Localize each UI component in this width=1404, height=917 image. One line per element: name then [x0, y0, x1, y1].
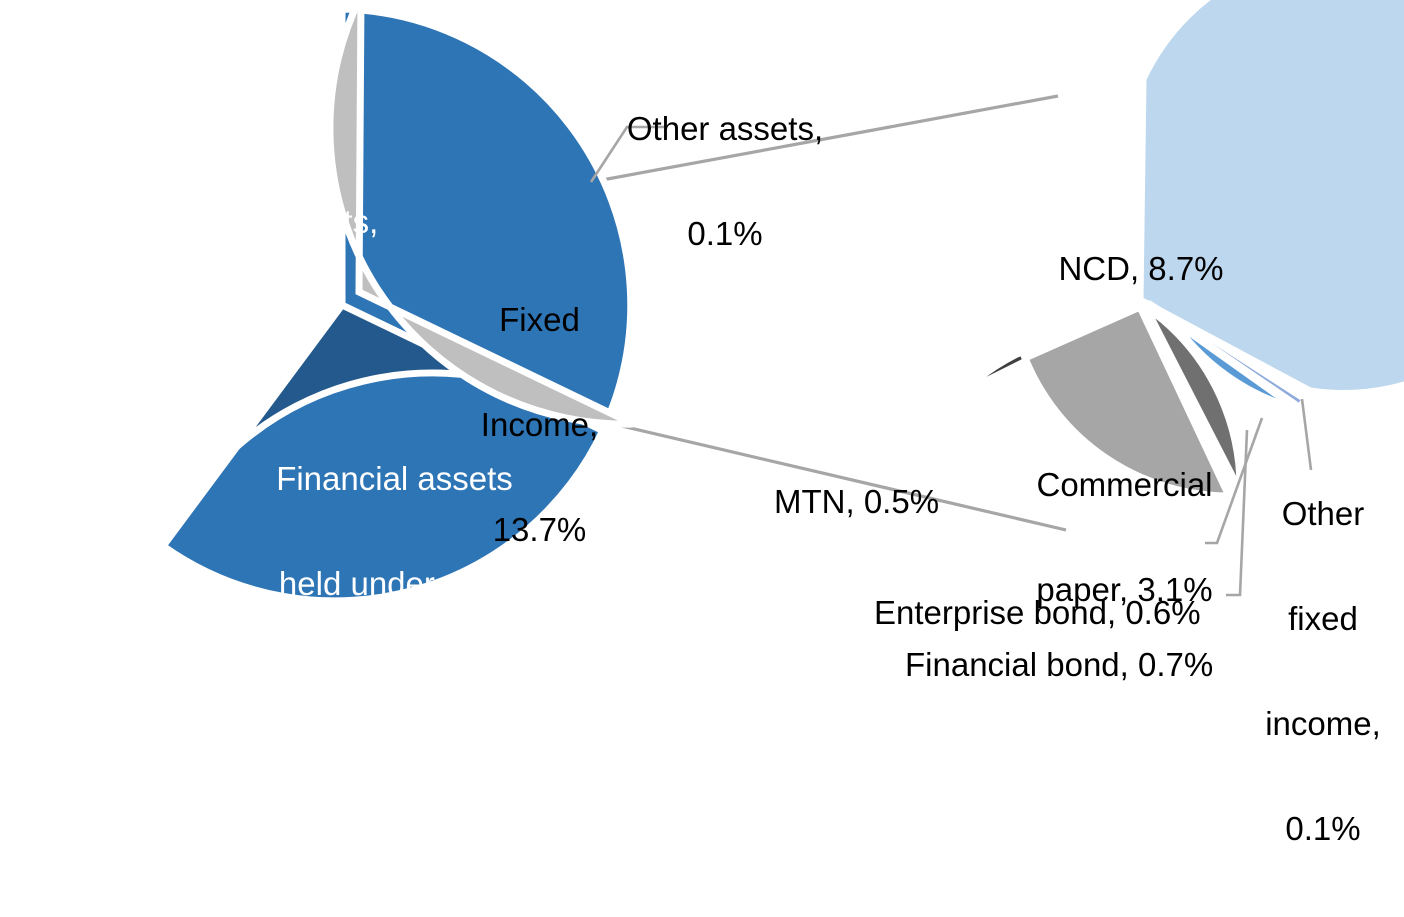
- label-other-fixed-line2: fixed: [1248, 602, 1398, 637]
- label-other-assets-line1: Other assets,: [600, 112, 850, 147]
- label-ncd-text: NCD, 8.7%: [1010, 252, 1272, 287]
- label-repo-line4: 25.9%: [252, 777, 537, 812]
- label-fixed-income-line1: Fixed: [452, 303, 627, 338]
- label-ncd: NCD, 8.7%: [1010, 182, 1272, 357]
- label-mtn-text: MTN, 0.5%: [774, 485, 994, 520]
- label-other-fixed-line3: income,: [1248, 707, 1398, 742]
- label-financial-bond: Financial bond, 0.7%: [905, 578, 1245, 753]
- label-other-fixed-line1: Other: [1248, 497, 1398, 532]
- label-financial-bond-text: Financial bond, 0.7%: [905, 648, 1245, 683]
- label-commercial-paper-line1: Commercial: [1017, 468, 1232, 503]
- label-bank-deposits-line2: 60.3%: [120, 310, 420, 345]
- label-other-assets-line2: 0.1%: [600, 217, 850, 252]
- label-other-assets: Other assets, 0.1%: [600, 42, 850, 322]
- label-bank-deposits-line1: Bank deposits,: [120, 205, 420, 240]
- label-repo-line3: agreements,: [252, 672, 537, 707]
- label-other-fixed-line4: 0.1%: [1248, 812, 1398, 847]
- pie-chart-figure: Bank deposits, 60.3% Other assets, 0.1% …: [0, 0, 1404, 644]
- label-repo-line2: held under repo: [252, 567, 537, 602]
- label-other-fixed-income: Other fixed income, 0.1%: [1248, 427, 1398, 917]
- label-repo-line1: Financial assets: [252, 462, 537, 497]
- label-bank-deposits: Bank deposits, 60.3%: [120, 135, 420, 415]
- label-repo-agreements: Financial assets held under repo agreeme…: [252, 392, 537, 882]
